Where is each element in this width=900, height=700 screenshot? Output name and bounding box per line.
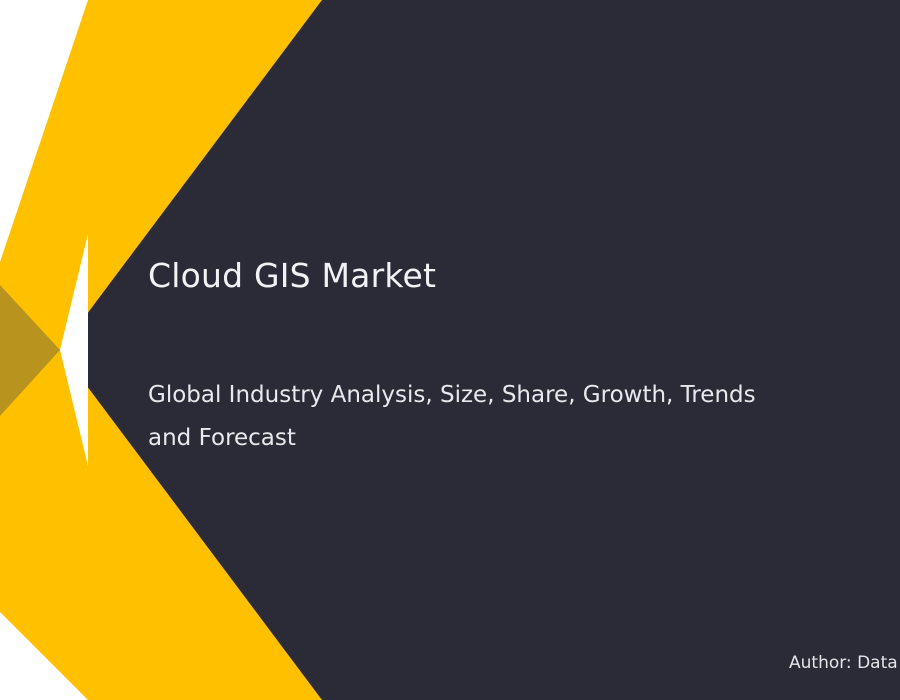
- slide-subtitle: Global Industry Analysis, Size, Share, G…: [148, 374, 788, 460]
- slide-author-label: Author: Data: [789, 653, 898, 673]
- slide-title: Cloud GIS Market: [148, 256, 436, 295]
- title-slide: Cloud GIS Market Global Industry Analysi…: [0, 0, 900, 700]
- slide-content: Cloud GIS Market Global Industry Analysi…: [0, 0, 900, 700]
